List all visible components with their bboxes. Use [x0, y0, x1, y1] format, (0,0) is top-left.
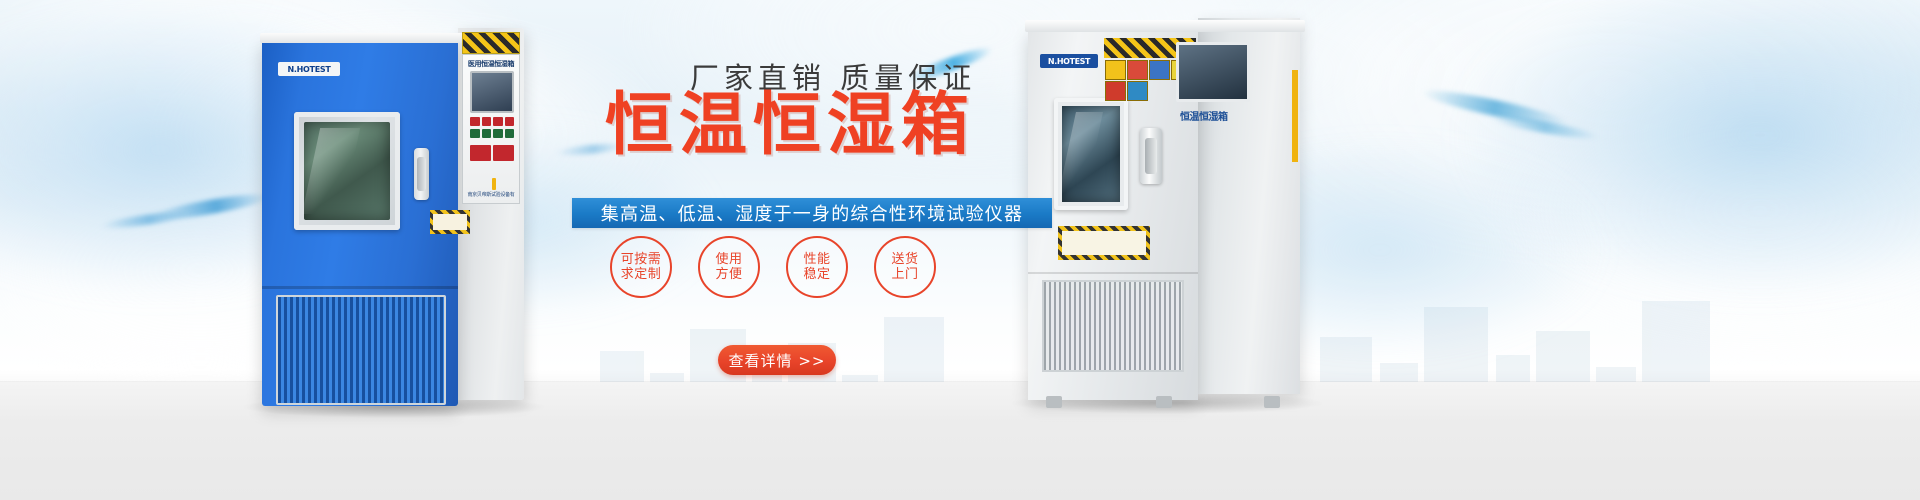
- brand-label: N.HOTEST: [278, 62, 340, 76]
- indicator-strip: [1292, 70, 1298, 162]
- machine-foot: [1156, 396, 1172, 408]
- banner-subtitle: 集高温、低温、湿度于一身的综合性环境试验仪器: [572, 198, 1052, 228]
- control-panel: 医用恒温恒湿箱 南京贝帝斯试验设备有限公司: [462, 54, 520, 204]
- feature-circle-list: 可按需 求定制 使用 方便 性能 稳定 送货 上门: [610, 236, 936, 298]
- door-handle: [414, 148, 429, 200]
- control-screen: [470, 71, 514, 113]
- machine-foot: [1264, 396, 1280, 408]
- feature-circle: 性能 稳定: [786, 236, 848, 298]
- feature-circle-line1: 可按需: [621, 252, 662, 267]
- banner-text-block: 厂家直销 质量保证 恒温恒湿箱 集高温、低温、湿度于一身的综合性环境试验仪器 可…: [560, 0, 1080, 500]
- feature-circle-line2: 稳定: [803, 267, 830, 282]
- chamber-glass: [304, 122, 390, 220]
- control-button-row: [470, 145, 514, 161]
- banner-headline: 恒温恒湿箱: [605, 92, 975, 160]
- product-banner: N.HOTEST 医用恒温恒湿箱 南京贝帝斯试验设备有限公司: [0, 0, 1920, 500]
- feature-circle-line2: 方便: [715, 267, 742, 282]
- feature-circle-line1: 性能: [803, 252, 830, 267]
- lower-vent-grille: [276, 295, 446, 405]
- door-handle: [1140, 128, 1162, 184]
- product-image-left: N.HOTEST 医用恒温恒湿箱 南京贝帝斯试验设备有限公司: [262, 28, 524, 406]
- control-button-row: [470, 117, 514, 126]
- machine-body: N.HOTEST: [262, 40, 458, 406]
- feature-circle: 可按需 求定制: [610, 236, 672, 298]
- feature-circle-line1: 送货: [891, 252, 918, 267]
- hazard-stripe: [462, 32, 520, 54]
- caution-placard: [430, 210, 470, 234]
- control-panel-title: 恒温恒湿箱: [1180, 108, 1276, 122]
- glass-glare: [302, 128, 360, 214]
- chamber-window: [294, 112, 400, 230]
- indicator-strip: [492, 178, 496, 190]
- feature-circle: 使用 方便: [698, 236, 760, 298]
- view-details-button[interactable]: 查看详情 >>: [718, 345, 836, 375]
- feature-circle: 送货 上门: [874, 236, 936, 298]
- feature-circle-line2: 上门: [891, 267, 918, 282]
- control-panel-title: 医用恒温恒湿箱: [463, 59, 519, 69]
- feature-circle-line1: 使用: [715, 252, 742, 267]
- machine-top-slab: [260, 33, 465, 43]
- body-seam: [262, 286, 458, 289]
- feature-circle-line2: 求定制: [621, 267, 662, 282]
- control-button-row: [470, 129, 514, 138]
- control-screen: [1176, 42, 1250, 102]
- control-panel-footer: 南京贝帝斯试验设备有限公司: [467, 190, 515, 200]
